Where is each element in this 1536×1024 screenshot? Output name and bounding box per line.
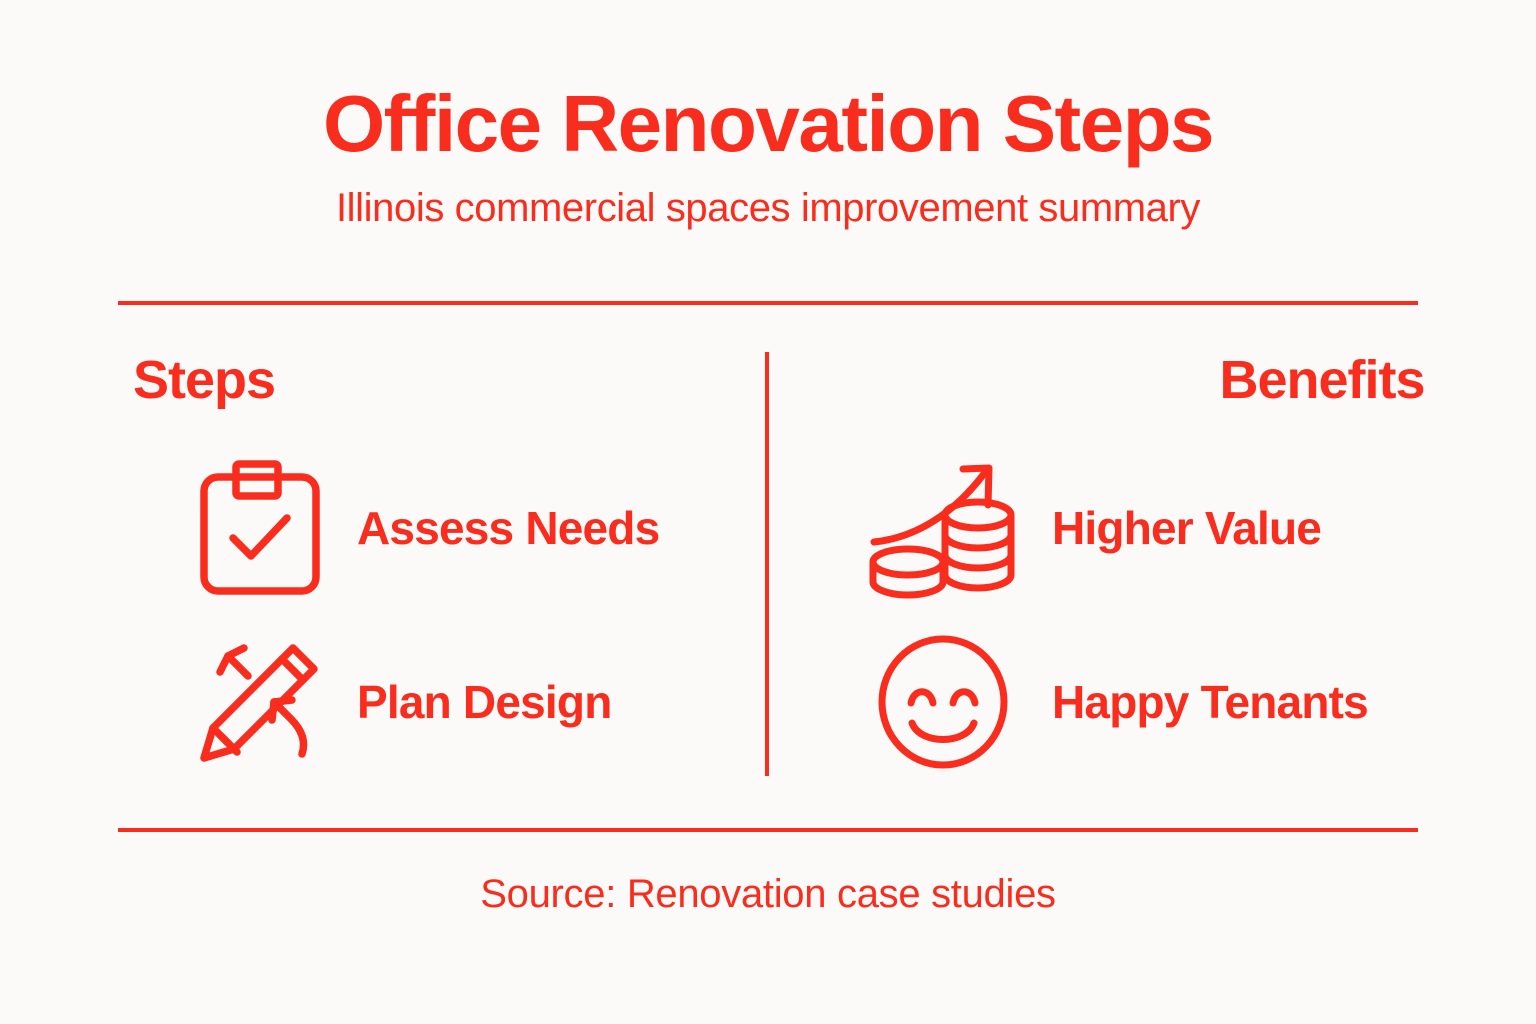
list-item-assess-needs[interactable]: Assess Needs xyxy=(0,463,768,593)
pencil-ruler-cross-icon xyxy=(185,637,335,767)
column-heading-benefits: Benefits xyxy=(768,352,1536,409)
list-item-plan-design[interactable]: Plan Design xyxy=(0,637,768,767)
list-item-happy-tenants[interactable]: Happy Tenants xyxy=(768,637,1536,767)
source-note: Source: Renovation case studies xyxy=(0,872,1536,917)
column-steps: Steps Assess Needs xyxy=(0,352,768,782)
smiley-face-icon xyxy=(868,637,1018,767)
column-benefits: Benefits xyxy=(768,352,1536,782)
clipboard-check-icon xyxy=(185,463,335,593)
divider-bottom xyxy=(118,828,1418,832)
header-block: Office Renovation Steps Illinois commerc… xyxy=(0,84,1536,230)
list-item-label: Higher Value xyxy=(1052,504,1321,552)
list-item-higher-value[interactable]: Higher Value xyxy=(768,463,1536,593)
page-title: Office Renovation Steps xyxy=(0,84,1536,164)
benefits-list: Higher Value Happy Tenants xyxy=(768,463,1536,767)
infographic-card: Office Renovation Steps Illinois commerc… xyxy=(0,0,1536,1024)
column-heading-steps: Steps xyxy=(0,352,768,409)
list-item-label: Plan Design xyxy=(357,678,612,726)
list-item-label: Happy Tenants xyxy=(1052,678,1368,726)
list-item-label: Assess Needs xyxy=(357,504,659,552)
steps-list: Assess Needs xyxy=(0,463,768,767)
page-subtitle: Illinois commercial spaces improvement s… xyxy=(0,186,1536,230)
columns-container: Steps Assess Needs xyxy=(0,352,1536,782)
divider-top xyxy=(118,301,1418,305)
growth-arrow-coins-icon xyxy=(868,463,1018,593)
